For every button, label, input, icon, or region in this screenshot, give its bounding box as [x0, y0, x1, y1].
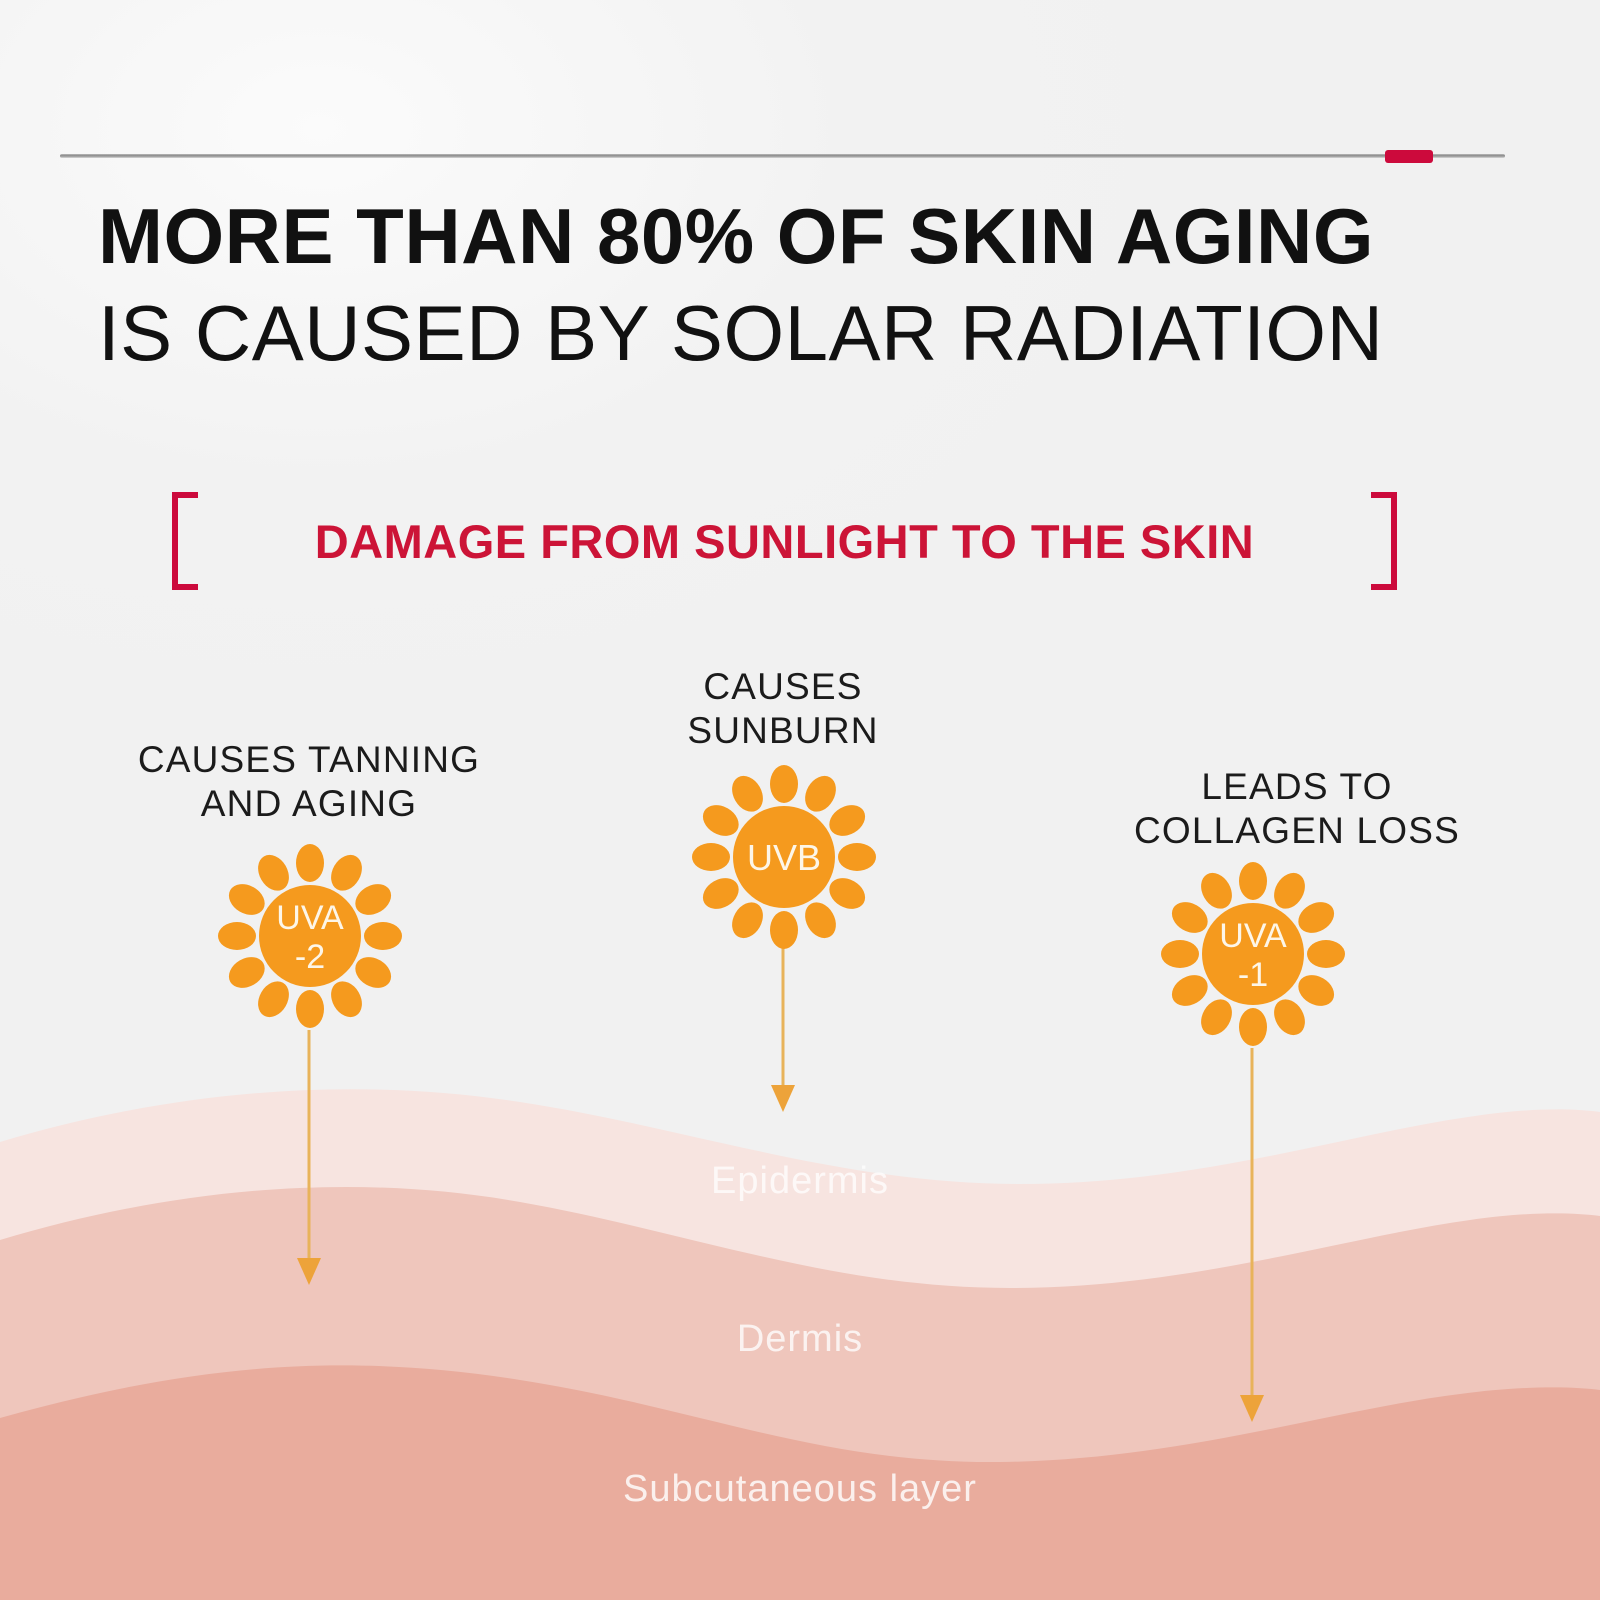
ray-title-uvb: CAUSES SUNBURN	[523, 665, 1043, 752]
sun-icon-uva2[interactable]: UVA -2	[221, 841, 399, 1031]
sun-label-uva1-line1: UVA	[1219, 917, 1287, 955]
header-divider-line	[60, 154, 1505, 158]
header-divider	[60, 150, 1505, 162]
headline-line-1: MORE THAN 80% OF SKIN AGING	[98, 196, 1518, 277]
infographic-canvas: Epidermis Dermis Subcutaneous layer MORE…	[0, 0, 1600, 1600]
header-accent-marker	[1385, 150, 1433, 163]
sun-label-uva2-line1: UVA	[276, 899, 344, 937]
sun-icon-uva1[interactable]: UVA -1	[1164, 859, 1342, 1049]
page-title: MORE THAN 80% OF SKIN AGING IS CAUSED BY…	[98, 196, 1518, 374]
skin-layers-illustration	[0, 1080, 1600, 1600]
sun-label-uva2-line2: -2	[295, 938, 325, 976]
ray-title-uva2: CAUSES TANNING AND AGING	[49, 738, 569, 825]
headline-line-2: IS CAUSED BY SOLAR RADIATION	[98, 293, 1518, 374]
subtitle-text: DAMAGE FROM SUNLIGHT TO THE SKIN	[172, 492, 1397, 590]
sun-label-uva1-line2: -1	[1238, 956, 1268, 994]
ray-title-uva1: LEADS TO COLLAGEN LOSS	[1037, 765, 1557, 852]
subtitle-banner: DAMAGE FROM SUNLIGHT TO THE SKIN	[172, 492, 1397, 590]
sun-label-uvb: UVB	[747, 837, 821, 878]
sun-icon-uvb[interactable]: UVB	[695, 762, 873, 952]
